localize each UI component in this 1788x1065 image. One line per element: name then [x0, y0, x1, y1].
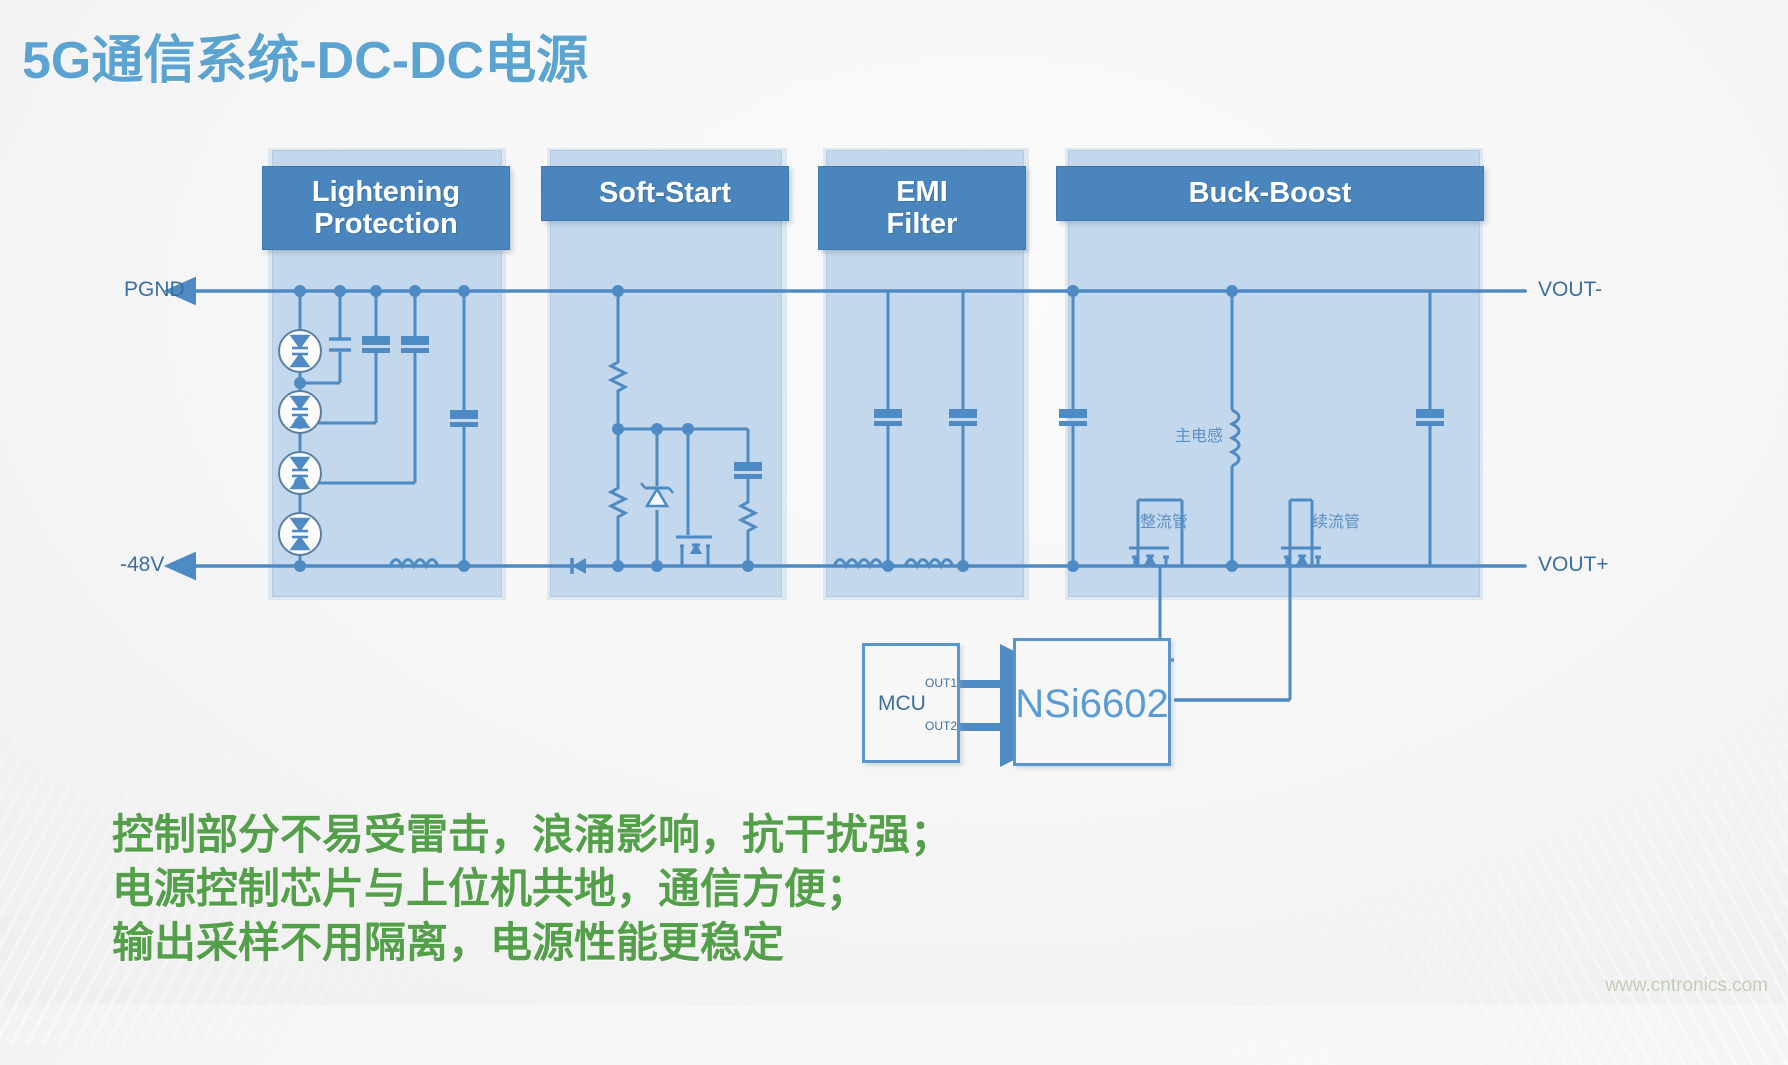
- block-header-emi-line1: EMI: [896, 176, 948, 208]
- rail-label-vout+: VOUT+: [1538, 553, 1609, 577]
- label-main-inductor: 主电感: [1175, 422, 1223, 446]
- block-header-lightening-line1: Lightening: [312, 176, 460, 208]
- block-header-emi[interactable]: EMI Filter: [818, 166, 1026, 250]
- rail-label-48v: -48V: [120, 553, 164, 577]
- rail-label-pgnd: PGND: [124, 278, 185, 302]
- footnote-line-2: 电源控制芯片与上位机共地，通信方便；: [112, 862, 952, 916]
- block-header-emi-line2: Filter: [887, 208, 958, 240]
- block-header-lightening-line2: Protection: [314, 208, 457, 240]
- mcu-pin-out2: OUT2: [925, 719, 957, 733]
- footnote-line-1: 控制部分不易受雷击，浪涌影响，抗干扰强；: [112, 808, 952, 862]
- footnote-list: 控制部分不易受雷击，浪涌影响，抗干扰强； 电源控制芯片与上位机共地，通信方便； …: [112, 808, 952, 969]
- mcu-label: MCU: [862, 693, 952, 715]
- footnote-line-3: 输出采样不用隔离，电源性能更稳定: [112, 916, 952, 970]
- label-rectifier: 整流管: [1140, 508, 1188, 532]
- watermark: www.cntronics.com: [1605, 975, 1768, 997]
- label-freewheel: 续流管: [1312, 508, 1360, 532]
- block-header-buckboost[interactable]: Buck-Boost: [1056, 166, 1484, 221]
- block-header-lightening[interactable]: Lightening Protection: [262, 166, 510, 250]
- mcu-pin-out1: OUT1: [925, 676, 957, 690]
- nsi6602-label: NSi6602: [1013, 682, 1171, 726]
- block-header-softstart[interactable]: Soft-Start: [541, 166, 789, 221]
- rail-label-vout-: VOUT-: [1538, 278, 1602, 302]
- block-header-softstart-label: Soft-Start: [599, 177, 731, 209]
- block-header-buckboost-label: Buck-Boost: [1189, 177, 1352, 209]
